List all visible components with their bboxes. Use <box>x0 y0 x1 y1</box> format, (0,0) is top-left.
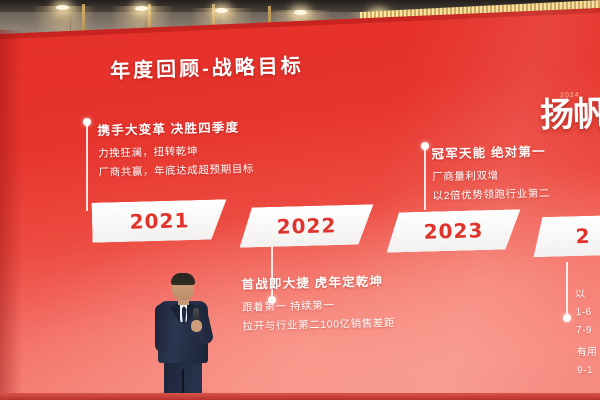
year-label: 2021 <box>129 208 189 234</box>
ceiling-downlight <box>215 8 228 13</box>
timeline-block-2021: 携手大变革 决胜四季度 力挽狂澜，扭转乾坤 厂商共赢，年底达成超预期目标 <box>97 116 254 180</box>
presenter-leg-split <box>182 369 184 396</box>
year-label: 2022 <box>276 213 336 239</box>
timeline-connector-line <box>424 150 426 210</box>
cropped-edge-text-block: 以 1-6 7-9 有用 9-1 <box>575 278 600 377</box>
timeline-block-2022: 首战即大捷 虎年定乾坤 跟着第一 持续第一 拉开与行业第二100亿销售差距 <box>241 270 395 334</box>
ceiling-downlight <box>294 10 307 15</box>
backdrop-left-fold <box>0 30 22 400</box>
ceiling-downlight <box>56 5 69 10</box>
conference-stage-photo: 年度回顾-战略目标 2024 扬帆 携手大变革 决胜四季度 力挽狂澜，扭转乾坤 … <box>0 0 600 400</box>
timeline-marker-dot <box>421 142 429 150</box>
brand-calligraphy-mark: 扬帆 <box>540 98 600 132</box>
year-chip-2023[interactable]: 2023 <box>385 209 521 253</box>
event-brand-logo: 2024 扬帆 <box>540 91 600 132</box>
year-chip-2021[interactable]: 2021 <box>91 199 227 243</box>
timeline-marker-dot <box>83 118 91 126</box>
timeline-block-2023: 冠军天能 绝对第一 厂商量利双增 以2倍优势领跑行业第二 <box>431 141 550 204</box>
timeline-connector-line <box>566 262 568 314</box>
block-line: 力挽狂澜，扭转乾坤 <box>98 142 254 161</box>
edge-text-line: 以 <box>575 285 599 301</box>
edge-text-line: 9-1 <box>577 365 600 377</box>
block-heading: 携手大变革 决胜四季度 <box>97 116 253 139</box>
block-heading: 首战即大捷 虎年定乾坤 <box>241 270 394 293</box>
presenter <box>152 274 214 396</box>
presenter-arm-left <box>155 304 169 352</box>
year-chip-2022[interactable]: 2022 <box>238 204 374 248</box>
timeline-connector-line <box>86 126 88 211</box>
glasses-icon <box>173 283 193 289</box>
slide-title: 年度回顾-战略目标 <box>110 49 304 83</box>
year-label: 2023 <box>423 218 483 244</box>
block-line: 跟着第一 持续第一 <box>242 296 395 315</box>
edge-text-line: 7-9 <box>576 325 600 337</box>
ceiling-downlight <box>135 6 148 11</box>
presenter-hand <box>191 320 202 332</box>
stage-floor-edge <box>0 393 600 400</box>
year-chip-partial[interactable]: 2 <box>532 215 600 258</box>
block-line: 厂商量利双增 <box>432 167 550 185</box>
brand-year-text: 2024 <box>540 92 580 100</box>
timeline-marker-dot <box>563 314 571 322</box>
block-line: 以2倍优势领跑行业第二 <box>432 186 550 204</box>
block-heading: 冠军天能 绝对第一 <box>431 141 549 163</box>
edge-text-line: 有用 <box>576 343 600 359</box>
edge-text-line: 1-6 <box>576 307 600 319</box>
year-label: 2 <box>575 224 591 248</box>
